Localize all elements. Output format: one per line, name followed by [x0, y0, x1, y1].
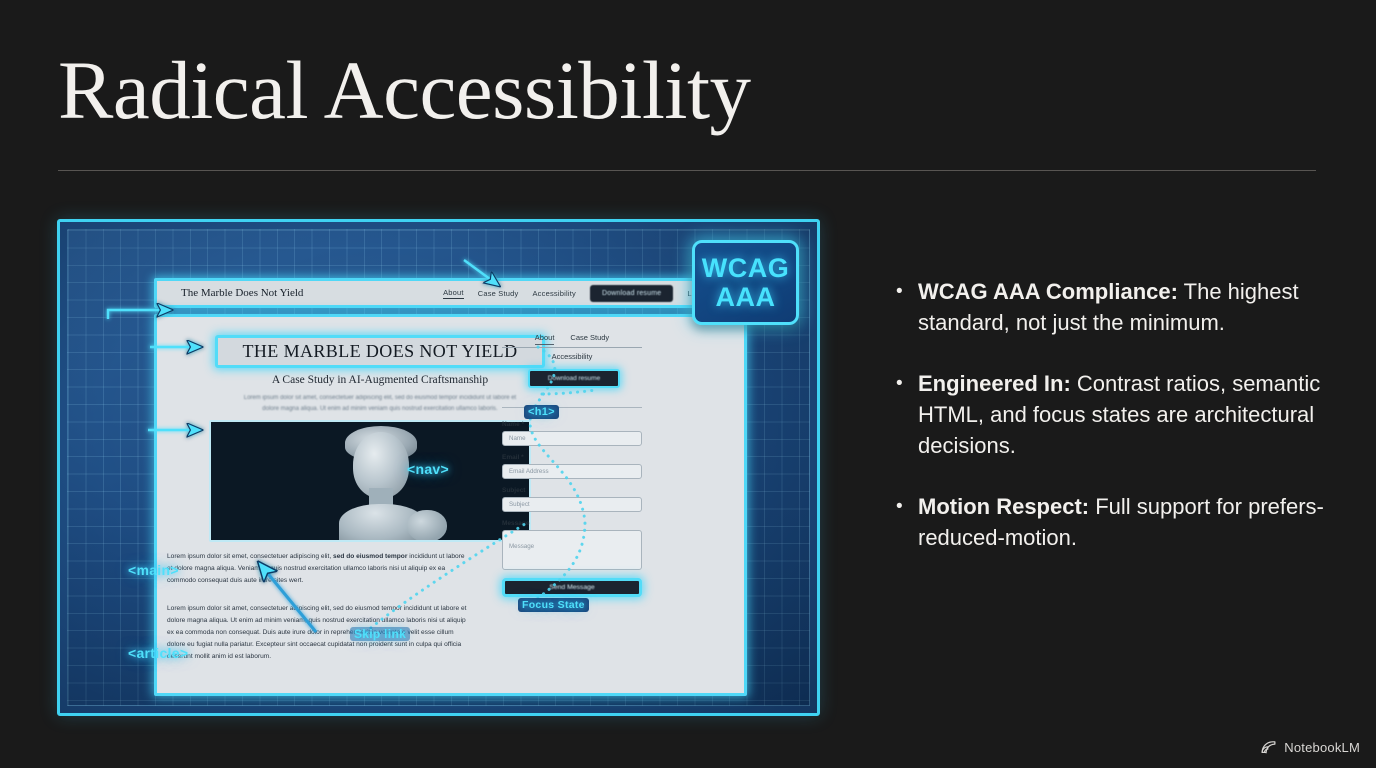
title-divider: [58, 170, 1316, 171]
mockup-hero-subtitle: A Case Study in AI-Augmented Craftsmansh…: [215, 374, 545, 386]
bullet-text: WCAG AAA Compliance: The highest standar…: [918, 276, 1336, 338]
send-message-label: Send Message: [549, 584, 594, 591]
statue-arm: [407, 510, 447, 542]
mockup-brand: The Marble Does Not Yield: [181, 287, 303, 299]
sidebar-cta-label: Download resume: [548, 375, 600, 382]
bullet-text: Engineered In: Contrast ratios, semantic…: [918, 368, 1336, 461]
sidebar-download-resume-button[interactable]: Download resume: [528, 369, 620, 388]
bullet-heading: Motion Respect:: [918, 494, 1089, 519]
wcag-aaa-badge: WCAG AAA: [692, 240, 799, 325]
send-message-button[interactable]: Send Message: [502, 578, 642, 597]
name-placeholder: Name: [509, 435, 526, 442]
sidebar-divider: [502, 347, 642, 348]
sidebar-link-accessibility[interactable]: Accessibility: [552, 352, 593, 361]
nav-link-about[interactable]: About: [443, 288, 464, 299]
sidebar-link-case-study[interactable]: Case Study: [570, 333, 609, 345]
mockup-page-body: THE MARBLE DOES NOT YIELD A Case Study i…: [154, 314, 747, 696]
wcag-badge-line2: AAA: [716, 283, 776, 311]
notebooklm-spiral-icon: [1260, 739, 1277, 756]
mockup-hero-lorem: Lorem ipsum dolor sit amet, consectetuer…: [235, 393, 525, 414]
subject-input[interactable]: Subject: [502, 497, 642, 512]
hero-heading-text: THE MARBLE DOES NOT YIELD: [243, 341, 518, 362]
message-field-label: Message: [502, 520, 642, 527]
mockup-navbar: The Marble Does Not Yield About Case Stu…: [154, 278, 747, 308]
list-item: • WCAG AAA Compliance: The highest stand…: [896, 276, 1336, 338]
nav-link-accessibility[interactable]: Accessibility: [532, 289, 575, 298]
email-field-label: Email *: [502, 454, 642, 461]
notebooklm-footer: NotebookLM: [1260, 739, 1360, 756]
mockup-hero-heading: THE MARBLE DOES NOT YIELD: [215, 335, 545, 368]
annotation-focus-state: Focus State: [518, 598, 589, 612]
bullet-heading: Engineered In:: [918, 371, 1071, 396]
page-title: Radical Accessibility: [58, 48, 751, 133]
paragraph-1-lead: Lorem ipsum dolor sit emet, consectetuer…: [167, 553, 333, 560]
bullet-text: Motion Respect: Full support for prefers…: [918, 491, 1336, 553]
subject-field-label: Subject: [502, 487, 642, 494]
article-paragraph-2: Lorem ipsum dolor sit amet, consectetuer…: [167, 603, 467, 663]
sidebar-link-about[interactable]: About: [535, 333, 555, 345]
message-placeholder: Message: [509, 543, 534, 550]
nav-download-resume-button[interactable]: Download resume: [590, 285, 673, 302]
bullet-marker: •: [896, 368, 918, 461]
name-input[interactable]: Name: [502, 431, 642, 446]
wcag-badge-line1: WCAG: [702, 254, 789, 282]
annotation-article: <article>: [128, 645, 188, 661]
notebooklm-label: NotebookLM: [1284, 740, 1360, 755]
marble-statue-image: [209, 420, 531, 542]
message-textarea[interactable]: Message: [502, 530, 642, 570]
sidebar-nav-row-1: About Case Study: [502, 333, 642, 345]
list-item: • Motion Respect: Full support for prefe…: [896, 491, 1336, 553]
list-item: • Engineered In: Contrast ratios, semant…: [896, 368, 1336, 461]
sidebar-nav-row-2: Accessibility: [502, 352, 642, 361]
bullet-heading: WCAG AAA Compliance:: [918, 279, 1178, 304]
email-placeholder: Email Address: [509, 468, 549, 475]
nav-link-case-study[interactable]: Case Study: [478, 289, 519, 298]
annotation-main: <main>: [128, 562, 179, 578]
bullet-list: • WCAG AAA Compliance: The highest stand…: [896, 276, 1336, 583]
bullet-marker: •: [896, 491, 918, 553]
subject-placeholder: Subject: [509, 501, 530, 508]
name-field-label: Name *: [502, 421, 642, 428]
annotation-skip-link: Skip link: [350, 627, 410, 641]
paragraph-1-strong: sed do eiusmod tempor: [333, 553, 407, 560]
contact-form: Name * Name Email * Email Address Subjec…: [502, 421, 642, 597]
annotation-h1: <h1>: [524, 405, 559, 419]
mockup-nav-links: About Case Study Accessibility Download …: [443, 285, 734, 302]
annotation-nav: <nav>: [407, 461, 449, 477]
bullet-marker: •: [896, 276, 918, 338]
website-mockup: The Marble Does Not Yield About Case Stu…: [154, 278, 747, 696]
article-paragraph-1: Lorem ipsum dolor sit emet, consectetuer…: [167, 551, 467, 587]
email-input[interactable]: Email Address: [502, 464, 642, 479]
sidebar-rule: [502, 407, 642, 408]
